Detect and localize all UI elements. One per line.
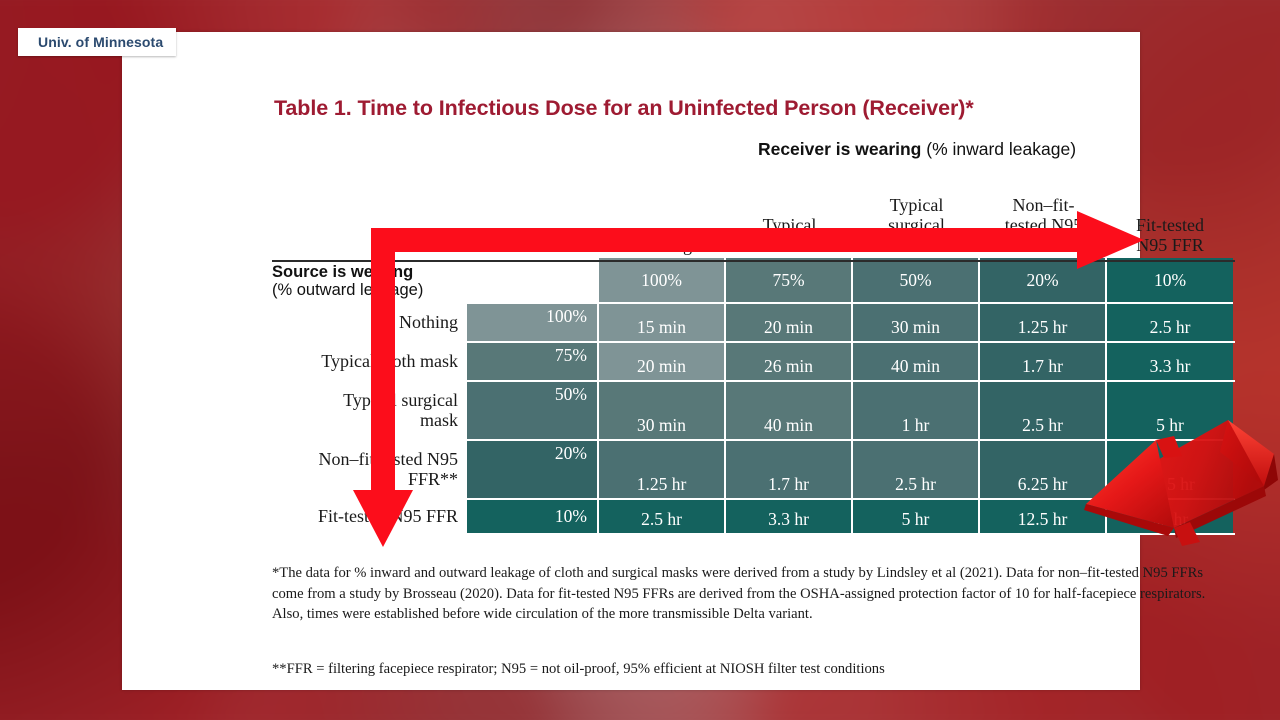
source-attribution-chip: Univ. of Minnesota [18, 28, 176, 56]
source-group-label-bold: Source is wearing [272, 263, 465, 281]
cell-value: 30 min [599, 382, 726, 439]
cell-value: 1 hr [853, 382, 980, 439]
cell-value: 3.3 hr [1107, 343, 1233, 380]
red-right-arrow-shaft [371, 228, 1085, 252]
cell-value: 2.5 hr [853, 441, 980, 498]
row-leakage-nothing: 100% [467, 304, 599, 341]
cell-value: 30 min [853, 304, 980, 341]
row-label-cloth-mask: Typical cloth mask [272, 343, 467, 380]
table-row: Typical cloth mask 75% 20 min 26 min 40 … [272, 343, 1235, 382]
cell-value: 1.7 hr [726, 441, 853, 498]
receiver-group-label: Receiver is wearing (% inward leakage) [599, 139, 1235, 160]
source-group-label-regular: (% outward leakage) [272, 281, 465, 299]
cell-value: 26 min [726, 343, 853, 380]
receiver-group-label-bold: Receiver is wearing [758, 139, 921, 159]
cell-value: 1.25 hr [980, 304, 1107, 341]
source-group-label: Source is wearing (% outward leakage) [272, 258, 467, 304]
row-label-nothing: Nothing [272, 304, 467, 341]
cell-value: 20 min [726, 304, 853, 341]
cell-value: 2.5 hr [1107, 304, 1233, 341]
cell-value: 5 hr [853, 500, 980, 533]
cell-value: 15 min [599, 304, 726, 341]
row-label-surgical-mask: Typical surgical mask [272, 382, 467, 439]
cell-value: 40 min [853, 343, 980, 380]
page-title: Table 1. Time to Infectious Dose for an … [274, 96, 974, 121]
rowlabel-line: Typical surgical [343, 391, 458, 411]
cell-value: 40 min [726, 382, 853, 439]
cell-value: 20 min [599, 343, 726, 380]
receiver-group-label-regular: (% inward leakage) [921, 139, 1076, 159]
column-leakage-nothing: 100% [599, 258, 726, 304]
slide-card: Table 1. Time to Infectious Dose for an … [122, 32, 1140, 690]
column-leakage-cloth-mask: 75% [726, 258, 853, 304]
cell-value: 1.7 hr [980, 343, 1107, 380]
column-leakage-surgical-mask: 50% [853, 258, 980, 304]
cell-value: 3.3 hr [726, 500, 853, 533]
row-leakage-non-fit-tested-n95: 20% [467, 441, 599, 498]
red-down-arrow-head [353, 490, 413, 547]
cell-value: 2.5 hr [599, 500, 726, 533]
row-leakage-cloth-mask: 75% [467, 343, 599, 380]
colhead-line: Typical [888, 195, 945, 215]
colhead-line: Non–fit- [1005, 195, 1082, 215]
red-right-arrow-head [1077, 211, 1144, 269]
rowlabel-line: mask [343, 411, 458, 431]
colhead-line: N95 FFR [1136, 235, 1204, 255]
cell-value: 1.25 hr [599, 441, 726, 498]
footnote-ffr-definition: **FFR = filtering facepiece respirator; … [272, 659, 1222, 680]
red-down-arrow-shaft [371, 228, 395, 498]
colhead-line: Fit-tested [1136, 215, 1204, 235]
source-attribution-label: Univ. of Minnesota [38, 34, 163, 50]
footnote-data-sources: *The data for % inward and outward leaka… [272, 563, 1222, 625]
table-row: Nothing 100% 15 min 20 min 30 min 1.25 h… [272, 304, 1235, 343]
row-leakage-surgical-mask: 50% [467, 382, 599, 439]
rowlabel-line: Nothing [399, 313, 458, 333]
red-3d-arrow [1078, 412, 1280, 548]
row-leakage-fit-tested-n95: 10% [467, 500, 599, 533]
corner-blank-cell [467, 258, 599, 304]
